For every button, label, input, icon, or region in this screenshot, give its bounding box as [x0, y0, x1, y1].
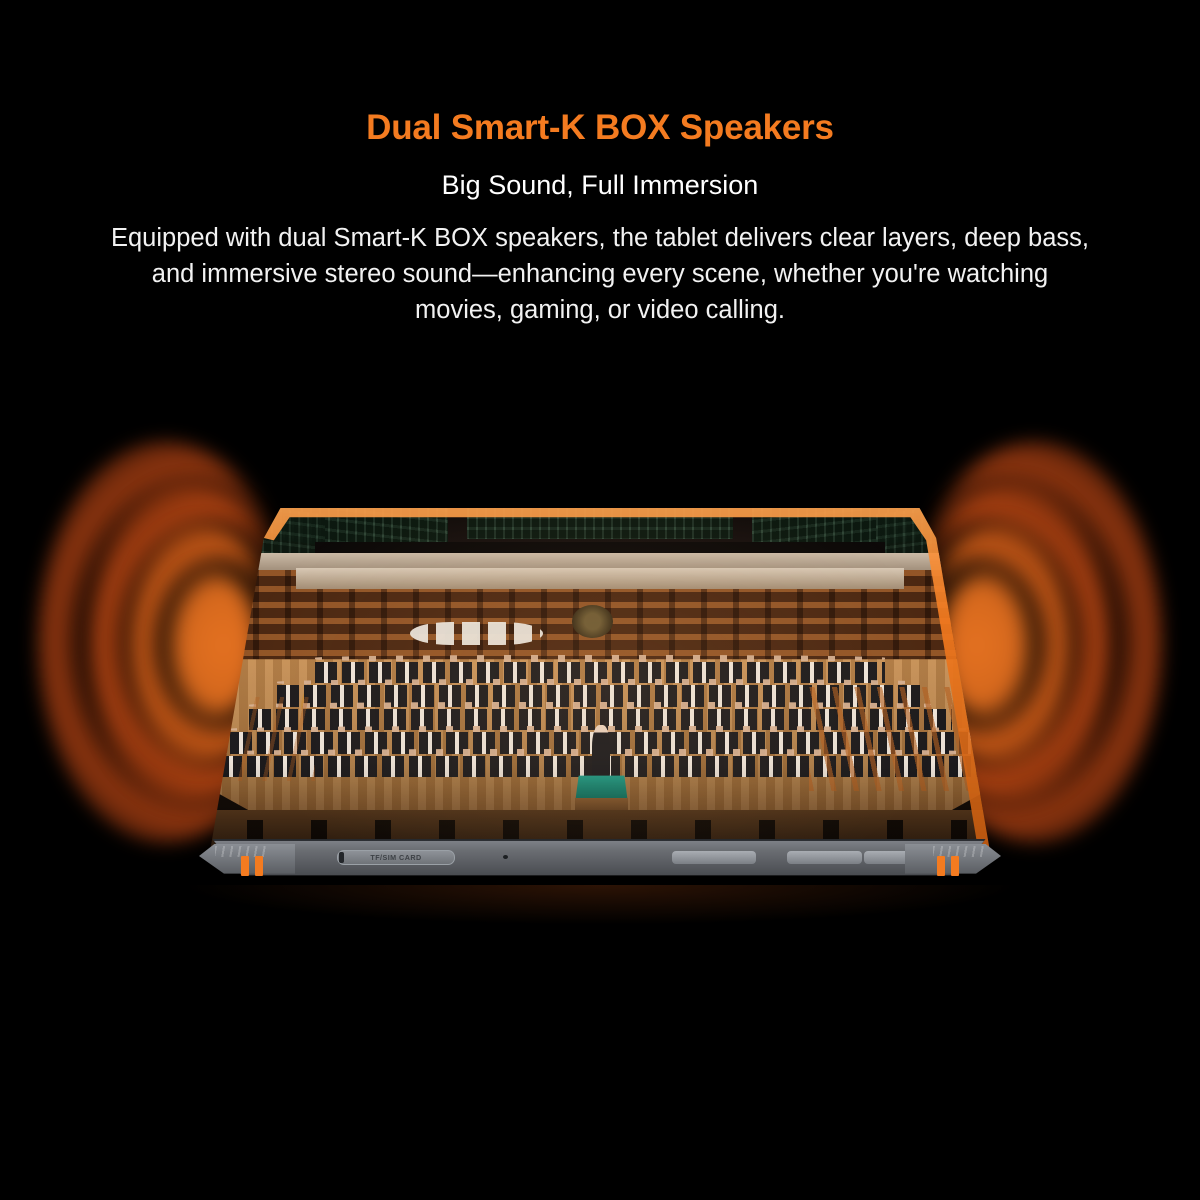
tablet-screen[interactable]	[185, 458, 1015, 858]
accent-stripe-left-1	[241, 856, 249, 876]
power-button[interactable]	[787, 851, 862, 864]
accent-stripe-left-2	[255, 856, 263, 876]
audience-seating-center	[467, 458, 733, 539]
timpani-drums	[410, 622, 543, 646]
volume-rocker-button[interactable]	[672, 851, 756, 864]
page-subtitle: Big Sound, Full Immersion	[0, 169, 1200, 201]
product-visual-stage: TF/SIM CARD	[0, 380, 1200, 940]
sim-tray-label: TF/SIM CARD	[370, 853, 421, 862]
string-section-left	[185, 697, 315, 782]
product-feature-slide: { "theme": { "background": "#000000", "a…	[0, 0, 1200, 1200]
device-under-glow	[180, 885, 1020, 925]
accent-stripe-right-1	[937, 856, 945, 876]
microphone-hole	[503, 855, 508, 859]
sim-card-tray[interactable]: TF/SIM CARD	[337, 850, 455, 865]
hall-organ-balcony	[515, 458, 686, 481]
string-section-right	[809, 687, 1015, 790]
screen-photo-concert-hall	[185, 458, 1015, 858]
gong-instrument	[572, 605, 614, 638]
intro-text-block: Dual Smart-K BOX Speakers Big Sound, Ful…	[0, 0, 1200, 328]
page-title: Dual Smart-K BOX Speakers	[0, 108, 1200, 148]
accent-stripe-right-2	[951, 856, 959, 876]
conductor-figure	[592, 725, 610, 779]
stage-cream-beam	[296, 568, 904, 589]
tablet-device: TF/SIM CARD	[185, 458, 1015, 878]
sim-tray-notch	[339, 852, 344, 863]
body-description: Equipped with dual Smart-K BOX speakers,…	[105, 220, 1095, 329]
